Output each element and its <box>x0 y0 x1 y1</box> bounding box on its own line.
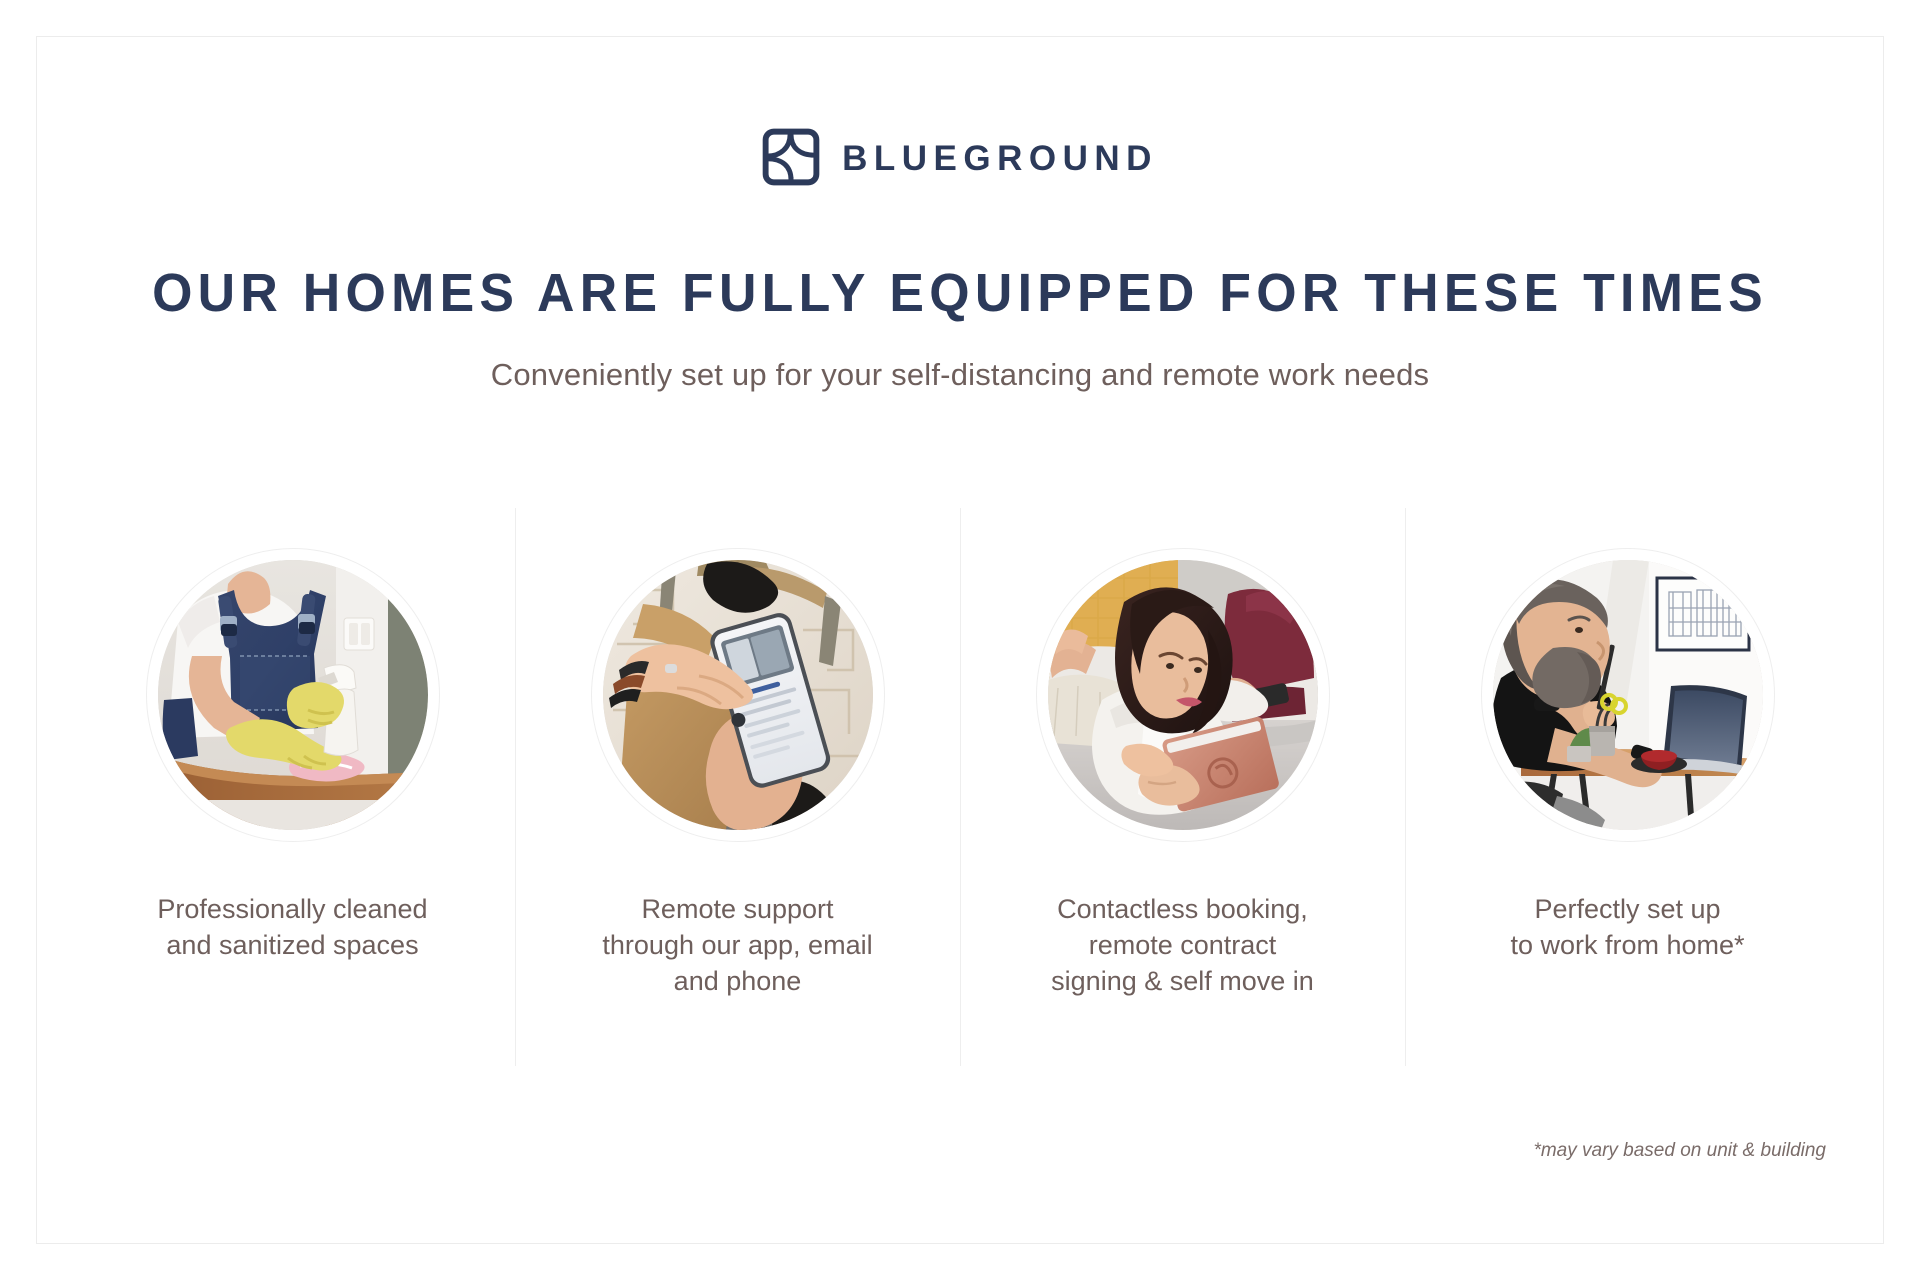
page-subtitle: Conveniently set up for your self-distan… <box>0 357 1920 393</box>
woman-with-tablet-on-bed-photo <box>1048 560 1318 830</box>
page-title: OUR HOMES ARE FULLY EQUIPPED FOR THESE T… <box>38 262 1881 324</box>
tablet-bed-illustration <box>1048 560 1318 830</box>
feature-column-support: Remote support through our app, email an… <box>515 508 960 1068</box>
footnote: *may vary based on unit & building <box>1533 1140 1826 1162</box>
feature-caption: Professionally cleaned and sanitized spa… <box>157 892 427 964</box>
photo-ring <box>1481 548 1775 842</box>
brand-logo: BLUEGROUND <box>0 128 1920 186</box>
feature-columns: Professionally cleaned and sanitized spa… <box>70 508 1850 1068</box>
cleaner-wiping-counter-photo <box>158 560 428 830</box>
blueground-square-icon <box>762 128 820 186</box>
photo-ring <box>146 548 440 842</box>
feature-caption: Contactless booking, remote contract sig… <box>1051 892 1314 1000</box>
feature-caption: Remote support through our app, email an… <box>602 892 872 1000</box>
poster-page: BLUEGROUND OUR HOMES ARE FULLY EQUIPPED … <box>0 0 1920 1280</box>
laptop-desk-illustration <box>1493 560 1763 830</box>
photo-ring <box>591 548 885 842</box>
photo-ring <box>1036 548 1330 842</box>
man-working-on-laptop-photo <box>1493 560 1763 830</box>
cleaner-illustration <box>158 560 428 830</box>
feature-caption: Perfectly set up to work from home* <box>1510 892 1744 964</box>
feature-column-cleaning: Professionally cleaned and sanitized spa… <box>70 508 515 1068</box>
feature-column-work-from-home: Perfectly set up to work from home* <box>1405 508 1850 1068</box>
hands-using-smartphone-app-photo <box>603 560 873 830</box>
feature-column-booking: Contactless booking, remote contract sig… <box>960 508 1405 1068</box>
phone-illustration <box>603 560 873 830</box>
brand-wordmark: BLUEGROUND <box>842 139 1158 176</box>
